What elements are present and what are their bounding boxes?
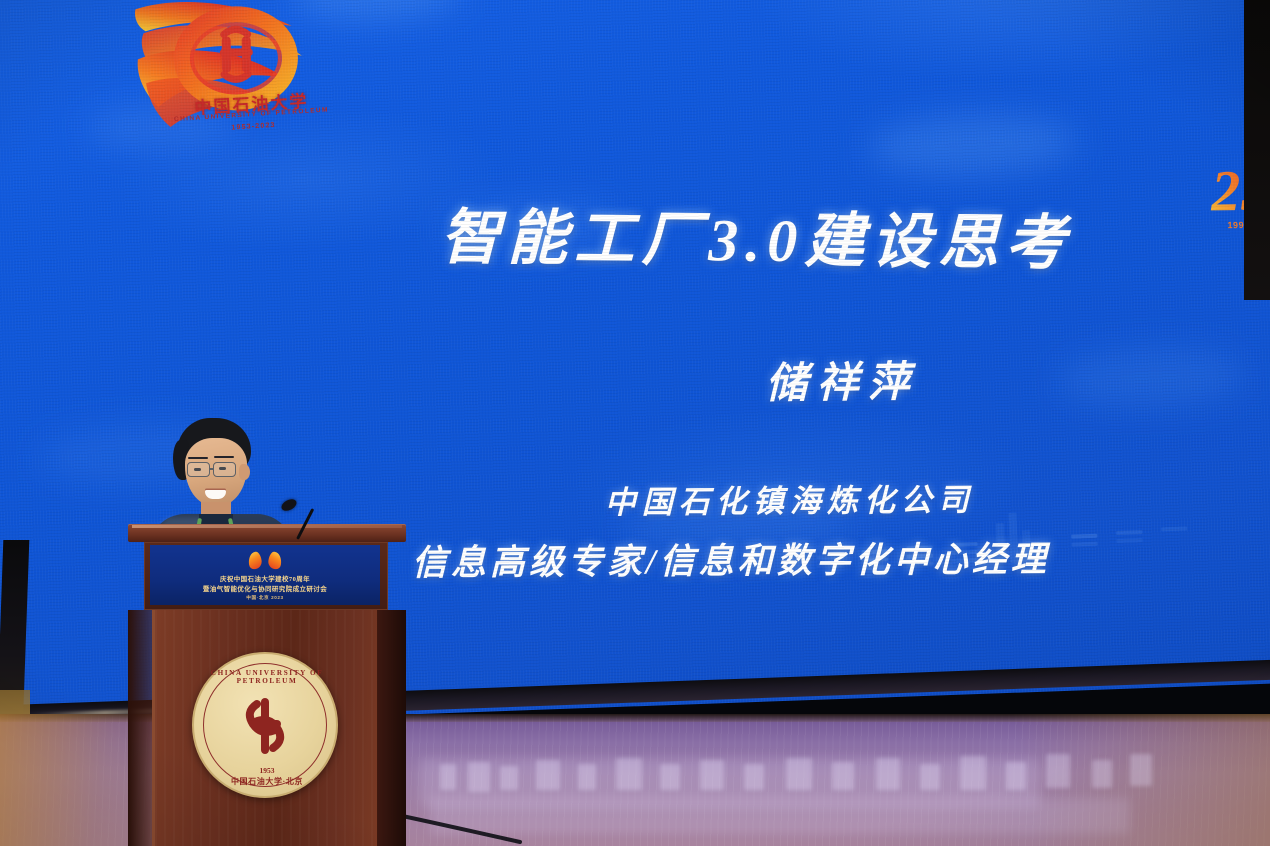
podium-event-sign: 庆祝中国石油大学建校70周年 暨油气智能优化与协同研究院成立研讨会 中国·北京 …	[150, 545, 380, 605]
floor-reflection	[960, 756, 986, 790]
floor-reflection	[660, 764, 680, 790]
university-seal: CHINA UNIVERSITY OF PETROLEUM 1953 中国石油大…	[192, 652, 338, 798]
slide-title: 智能工厂3.0建设思考	[440, 189, 1161, 283]
podium-sign-line3: 中国·北京 2023	[150, 595, 380, 601]
podium-right-side	[378, 610, 406, 846]
seal-founding-year: 1953	[194, 766, 340, 775]
slide-organization: 中国石化镇海炼化公司	[605, 474, 975, 522]
podium-top-highlight	[132, 525, 402, 528]
podium-sign-line1: 庆祝中国石油大学建校70周年	[150, 573, 380, 583]
screen-glow-blob	[866, 110, 1078, 179]
cup-70th-anniversary-logo: 中国石油大学 CHINA UNIVERSITY OF PETROLEUM 195…	[123, 0, 335, 147]
slide-presenter-name: 储祥萍	[765, 348, 919, 411]
floor-reflection	[1046, 754, 1070, 788]
floor-reflection	[744, 764, 764, 790]
floor-reflection	[786, 758, 812, 790]
speaker-glasses-lens	[187, 462, 210, 477]
flame-icon	[247, 551, 262, 570]
floor-reflection	[876, 758, 900, 790]
floor-reflection	[700, 760, 724, 790]
floor-reflection	[616, 758, 642, 790]
seal-text-english: CHINA UNIVERSITY OF PETROLEUM	[194, 669, 340, 685]
speaker-glasses-lens	[213, 462, 236, 477]
flame-icon	[267, 551, 282, 570]
slide-presenter-role: 信息高级专家/信息和数字化中心经理	[412, 531, 1050, 586]
podium-left-shadow	[128, 610, 154, 846]
floor-reflection	[832, 762, 854, 790]
floor-reflection	[1130, 754, 1152, 786]
conference-stage-scene: 中国石油大学 CHINA UNIVERSITY OF PETROLEUM 195…	[0, 0, 1270, 846]
seal-text-chinese: 中国石油大学·北京	[194, 776, 340, 787]
podium: 庆祝中国石油大学建校70周年 暨油气智能优化与协同研究院成立研讨会 中国·北京 …	[128, 524, 406, 846]
podium-sign-flame-emblem	[249, 552, 282, 569]
screen-glow-blob	[1055, 344, 1247, 411]
speaker-ear	[239, 464, 250, 480]
podium-sign-line2: 暨油气智能优化与协同研究院成立研讨会	[150, 583, 380, 593]
floor-reflection	[1092, 760, 1112, 788]
right-wall-edge	[1244, 0, 1270, 300]
floor-reflection	[1006, 762, 1026, 790]
seal-emblem-mark	[237, 694, 293, 758]
speaker-glasses-bridge	[210, 468, 214, 470]
floor-reflection	[578, 764, 596, 790]
floor-reflection	[920, 764, 940, 790]
